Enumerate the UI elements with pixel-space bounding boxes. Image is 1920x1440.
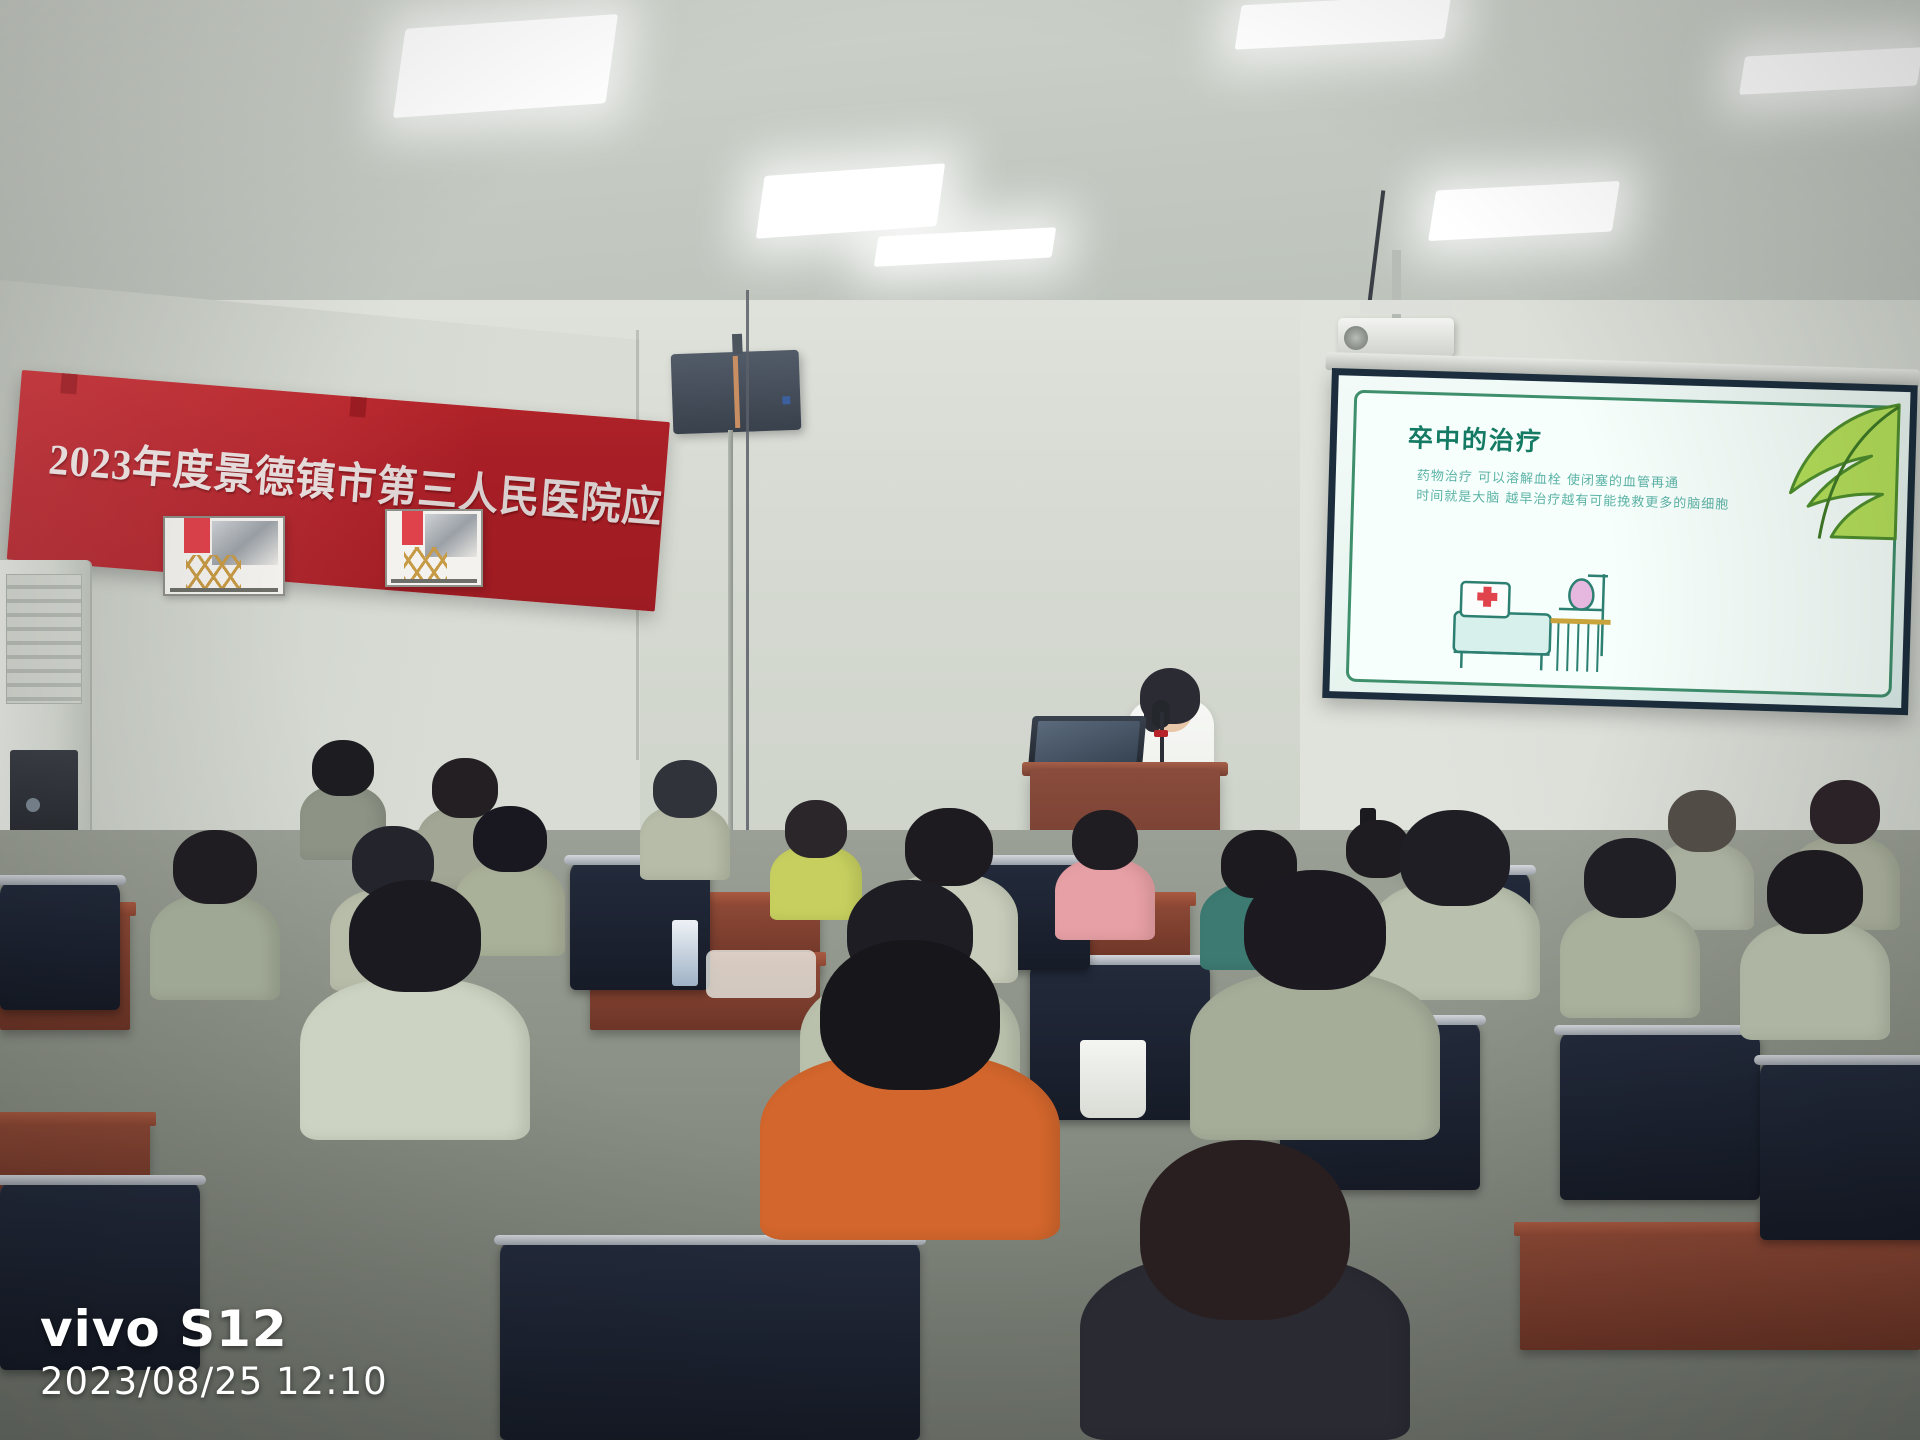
desk-bottle: [672, 920, 698, 986]
audience-member-torso: [300, 979, 530, 1140]
speaker-seam: [733, 356, 741, 428]
ceiling-light-panel: [756, 163, 945, 238]
desk-paper-cup: [1080, 1040, 1146, 1118]
wall-picture-red-tag: [184, 518, 210, 553]
wall-picture-frame: [163, 516, 285, 596]
audience-member-torso: [1740, 922, 1890, 1040]
microphone-indicator: [1154, 730, 1168, 737]
ac-indicator-icon: [26, 798, 40, 812]
wall-picture-base: [170, 588, 279, 592]
conference-table: [1520, 1230, 1920, 1350]
speaker-led-icon: [782, 396, 790, 404]
speaker-bracket: [732, 334, 743, 354]
banner-tie: [60, 370, 78, 394]
audience-member-head: [653, 760, 717, 818]
screen-surface: 卒中的治疗 药物治疗 可以溶解血栓 使闭塞的血管再通 时间就是大脑 越早治疗越有…: [1329, 375, 1910, 708]
audience-member-head: [1767, 850, 1863, 934]
audience-member-torso: [150, 895, 280, 1000]
banner-text: 2023年度景德镇市第三人民医院应急知识宣教活动: [47, 425, 608, 532]
audience-member: [760, 940, 1060, 1240]
wall-speaker: [671, 350, 802, 434]
audience-member-torso: [1190, 973, 1440, 1140]
wall-picture-lattice: [404, 547, 447, 581]
audience-member-torso: [1560, 906, 1700, 1018]
leaf-illustration-icon: [1718, 396, 1903, 571]
projector-mount-plate: [1360, 300, 1452, 314]
hanging-cable: [746, 290, 749, 850]
audience-member-head: [1072, 810, 1138, 870]
audience-member: [1560, 838, 1700, 1018]
wall-picture-lattice: [186, 555, 240, 590]
projector-lens-icon: [1344, 326, 1368, 350]
slide: 卒中的治疗 药物治疗 可以溶解血栓 使闭塞的血管再通 时间就是大脑 越早治疗越有…: [1346, 390, 1900, 698]
chair: [500, 1240, 920, 1440]
audience-member: [640, 760, 730, 880]
chair: [0, 880, 120, 1010]
table-top-edge: [0, 1112, 156, 1126]
audience-member-head: [1140, 1140, 1350, 1320]
audience-member: [150, 830, 280, 1000]
audience-member: [300, 880, 530, 1140]
audience-member-head: [905, 808, 993, 886]
audience-member-head: [312, 740, 374, 796]
audience-member: [1740, 850, 1890, 1040]
audience-member-head: [173, 830, 257, 904]
audience-member: [1080, 1140, 1410, 1440]
chair: [1560, 1030, 1760, 1200]
audience-member-head: [1810, 780, 1880, 844]
audience-member: [1055, 810, 1155, 940]
slide-title: 卒中的治疗: [1407, 418, 1543, 458]
ceiling-light-panel: [1428, 181, 1620, 241]
wall-picture-frame: [385, 509, 483, 587]
hospital-bed-illustration-icon: [1445, 560, 1658, 682]
wall-picture-red-tag: [402, 511, 423, 545]
audience-member-head: [1584, 838, 1676, 918]
audience-member: [1190, 870, 1440, 1140]
chair: [1760, 1060, 1920, 1240]
audience-member-head: [1244, 870, 1386, 990]
audience-member-torso: [1055, 859, 1155, 940]
watermark-brand: vivo S12: [40, 1300, 288, 1358]
watermark-datetime: 2023/08/25 12:10: [40, 1360, 388, 1403]
audience-member-head: [785, 800, 847, 858]
audience-member-head: [820, 940, 1000, 1090]
audience-member-head: [349, 880, 481, 992]
audience-member-head: [473, 806, 547, 872]
wall-picture-base: [391, 579, 477, 583]
projection-screen: 卒中的治疗 药物治疗 可以溶解血栓 使闭塞的血管再通 时间就是大脑 越早治疗越有…: [1322, 368, 1918, 715]
conference-photo: 2023年度景德镇市第三人民医院应急知识宣教活动 卒中的治疗 药物治疗 可以溶解…: [0, 0, 1920, 1440]
ceiling-light-panel: [393, 14, 618, 118]
presenter-hair: [1140, 668, 1200, 724]
ac-vent-grille: [6, 574, 82, 704]
